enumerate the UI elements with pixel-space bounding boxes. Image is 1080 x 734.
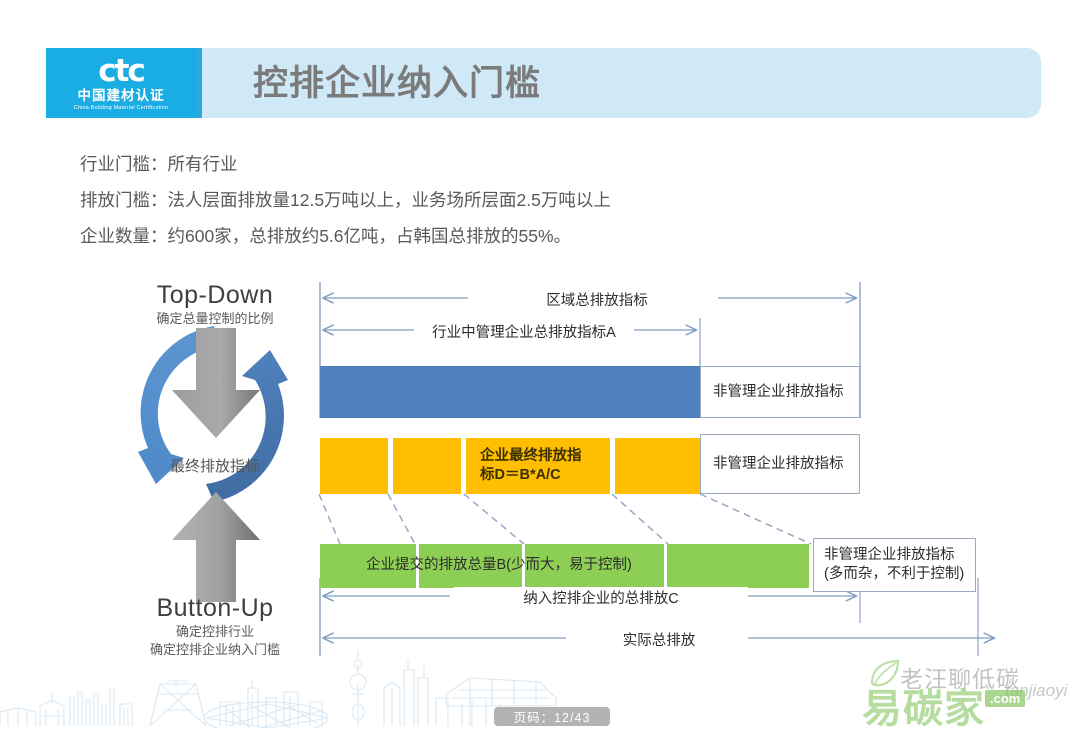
bullet-item-count: 企业数量：约600家，总排放约5.6亿吨，占韩国总排放的55%。 xyxy=(80,218,980,254)
header-accent-bar xyxy=(196,48,202,118)
cycle-bottom-subtitle-1: 确定控排行业 xyxy=(110,623,320,641)
bar-segment-orange-4 xyxy=(615,438,700,494)
bullet-item-emission: 排放门槛：法人层面排放量12.5万吨以上，业务场所层面2.5万吨以上 xyxy=(80,182,980,218)
bar-segment-green-nonmanaged: 非管理企业排放指标 (多而杂，不利于控制) xyxy=(813,538,976,592)
watermark-green-text: 易碳家 xyxy=(862,676,985,734)
bullet-list: 行业门槛：所有行业 排放门槛：法人层面排放量12.5万吨以上，业务场所层面2.5… xyxy=(80,146,980,254)
bar-segment-orange-3: 企业最终排放指 标D＝B*A/C xyxy=(466,438,610,494)
bar-label-nonmanaged-orange: 非管理企业排放指标 xyxy=(713,455,844,474)
bar-segment-orange-2 xyxy=(393,438,461,494)
arrow-label-actual-total: 实际总排放 xyxy=(570,629,748,650)
bar-segment-region-managed xyxy=(320,366,700,418)
logo-mark-text: ctc xyxy=(98,56,144,87)
bullet-item-industry: 行业门槛：所有行业 xyxy=(80,146,980,182)
bar-segment-region-nonmanaged: 非管理企业排放指标 xyxy=(700,366,860,418)
page-number-badge: 页码：12/43 xyxy=(494,707,610,726)
bar-label-final-indicator-line1: 企业最终排放指 xyxy=(480,447,582,466)
city-skyline-decoration xyxy=(0,648,560,728)
logo-english-name: China Building Material Certification xyxy=(74,105,169,111)
cycle-top-group: Top-Down 确定总量控制的比例 xyxy=(110,280,320,328)
bar-label-nonmanaged-green-line2: (多而杂，不利于控制) xyxy=(824,565,964,584)
page-title: 控排企业纳入门槛 xyxy=(253,56,541,111)
bar-label-final-indicator-line2: 标D＝B*A/C xyxy=(480,466,561,485)
ctc-logo: ctc 中国建材认证 China Building Material Certi… xyxy=(46,48,196,118)
bar-label-nonmanaged-green-line1: 非管理企业排放指标 xyxy=(824,546,955,565)
arrow-label-industry-managed: 行业中管理企业总排放指标A xyxy=(414,321,634,342)
arrow-label-region-total: 区域总排放指标 xyxy=(476,289,718,310)
cycle-up-arrow xyxy=(172,492,260,602)
arrow-label-included-total: 纳入控排企业的总排放C xyxy=(454,587,748,608)
watermark-domain-suffix: .com xyxy=(985,690,1025,707)
bar-segment-orange-1 xyxy=(320,438,388,494)
slide-header: ctc 中国建材认证 China Building Material Certi… xyxy=(46,48,1041,118)
cycle-bottom-title: Button-Up xyxy=(110,593,320,623)
cycle-top-subtitle: 确定总量控制的比例 xyxy=(110,310,320,328)
logo-chinese-name: 中国建材认证 xyxy=(78,89,165,104)
bar-label-nonmanaged-blue: 非管理企业排放指标 xyxy=(713,383,844,402)
slide: ctc 中国建材认证 China Building Material Certi… xyxy=(0,0,1080,728)
bar-label-submitted-total: 企业提交的排放总量B(少而大，易于控制) xyxy=(366,556,806,575)
emission-allocation-chart: 非管理企业排放指标 企业最终排放指 标D＝B*A/C 非管理企业排放指标 企业提… xyxy=(318,278,998,668)
cycle-top-title: Top-Down xyxy=(110,280,320,310)
cycle-diagram: Top-Down 确定总量控制的比例 最终排放指标 Button-Up 确定控排… xyxy=(110,280,320,660)
bar-segment-orange-nonmanaged: 非管理企业排放指标 xyxy=(700,434,860,494)
cycle-center-label: 最终排放指标 xyxy=(110,455,320,476)
